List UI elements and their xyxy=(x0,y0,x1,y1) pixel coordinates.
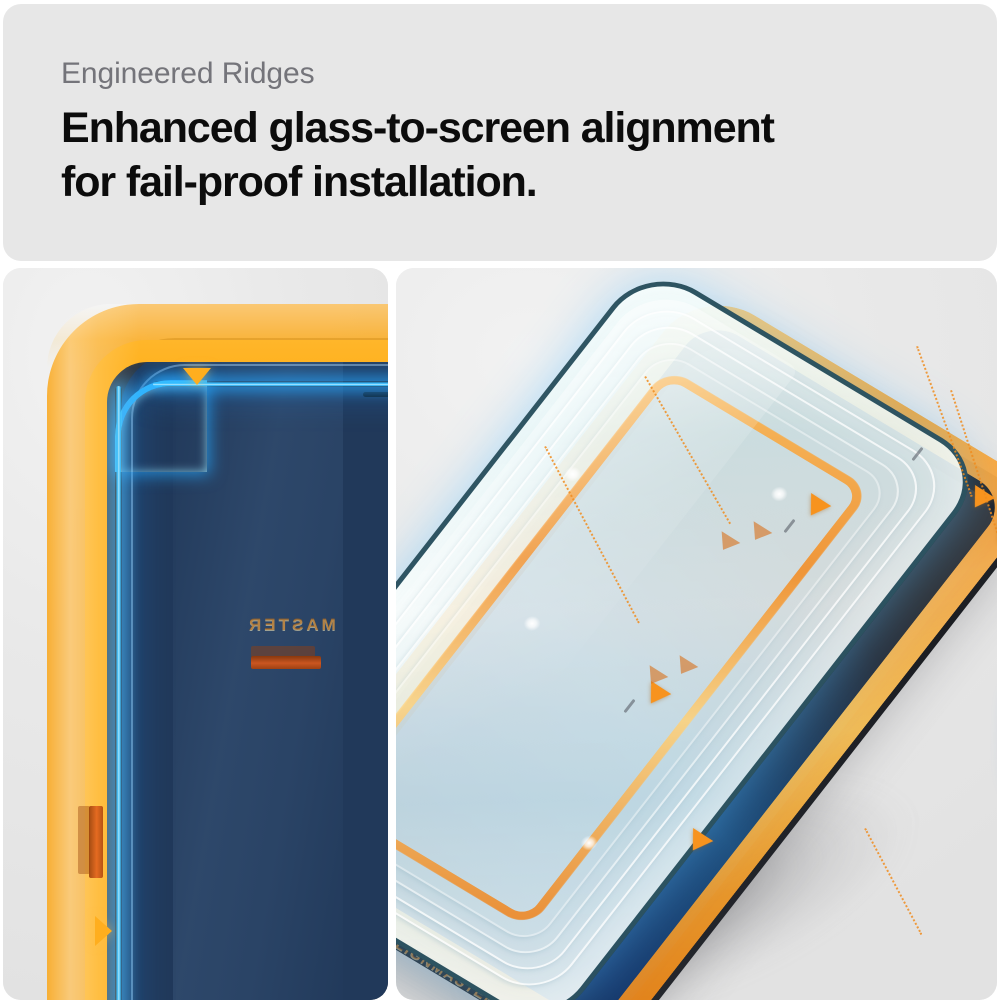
closeup-illustration: MASTER xyxy=(3,268,388,1000)
exploded-view-illustration: GLAS.tR ALIGNMASTER xyxy=(396,268,997,1000)
header-panel: Engineered Ridges Enhanced glass-to-scre… xyxy=(3,4,997,261)
right-image-panel: GLAS.tR ALIGNMASTER xyxy=(396,268,997,1000)
product-feature-page: Engineered Ridges Enhanced glass-to-scre… xyxy=(0,0,1000,1000)
headline-line-2: for fail-proof installation. xyxy=(61,155,941,209)
chevron-right-icon xyxy=(95,916,112,946)
tray-emboss-text: MASTER xyxy=(246,615,336,635)
headline-line-1: Enhanced glass-to-screen alignment xyxy=(61,101,941,155)
left-image-panel: MASTER xyxy=(3,268,388,1000)
chevron-down-icon xyxy=(183,368,211,385)
tray-accent-top xyxy=(251,656,321,669)
alignment-glow-burst xyxy=(996,588,997,888)
alignment-tray-inner-rail xyxy=(85,340,388,1000)
eyebrow-label: Engineered Ridges xyxy=(61,57,314,92)
tray-accent-left xyxy=(89,806,103,878)
page-title: Enhanced glass-to-screen alignment for f… xyxy=(61,101,941,209)
tray-highlight-top xyxy=(47,304,388,368)
